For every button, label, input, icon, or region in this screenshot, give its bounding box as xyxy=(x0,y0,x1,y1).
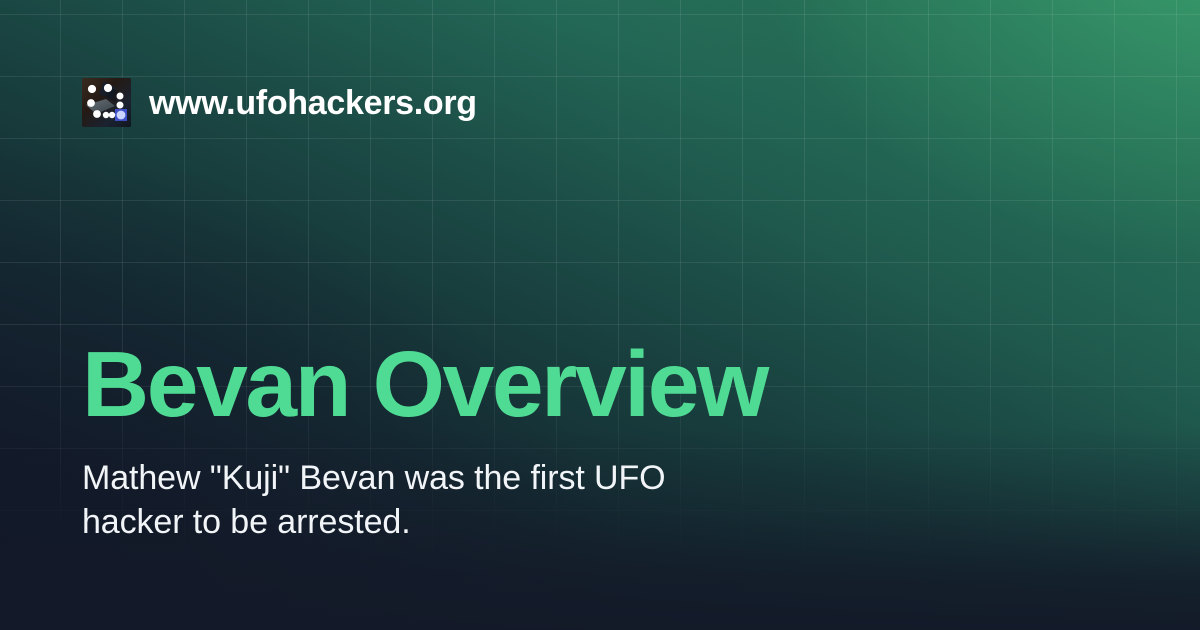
page-title: Bevan Overview xyxy=(82,338,1082,431)
social-share-card: www.ufohackers.org Bevan Overview Mathew… xyxy=(0,0,1200,630)
brand-url-text: www.ufohackers.org xyxy=(149,86,477,120)
page-subtitle: Mathew "Kuji" Bevan was the first UFO ha… xyxy=(82,457,772,544)
ufo-constellation-thumbnail-icon xyxy=(82,78,131,127)
brand-row: www.ufohackers.org xyxy=(82,78,477,127)
content-block: Bevan Overview Mathew "Kuji" Bevan was t… xyxy=(82,338,1082,544)
